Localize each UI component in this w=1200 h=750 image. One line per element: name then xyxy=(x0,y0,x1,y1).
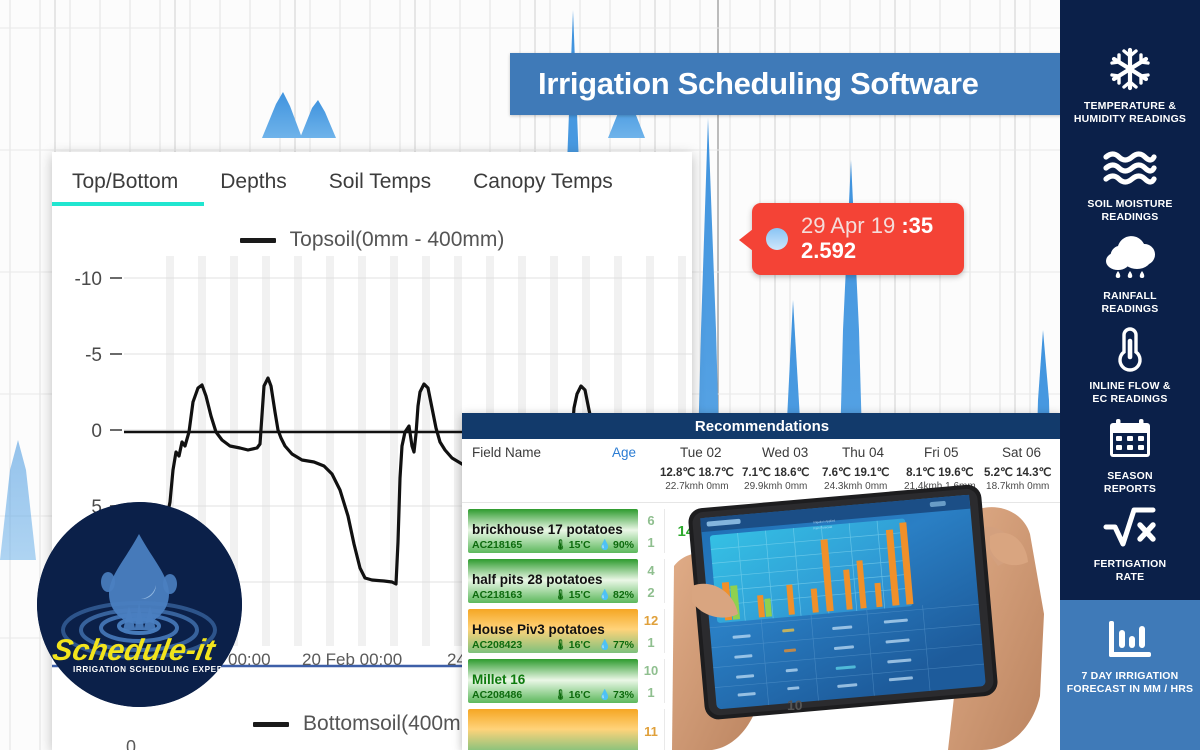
field-name-cell[interactable]: Millet 16 AC208486 🌡 16'C 💧 73% xyxy=(468,659,638,703)
snowflake-icon xyxy=(1107,42,1153,96)
column-header-thu: Thu 04 xyxy=(842,445,884,460)
page-title: Irrigation Scheduling Software xyxy=(538,66,979,102)
sidebar-item-fertigation-rate[interactable]: FERTIGATION RATE xyxy=(1060,500,1200,584)
legend-label-topsoil: Topsoil(0mm - 400mm) xyxy=(290,228,505,252)
feature-sidebar: TEMPERATURE & HUMIDITY READINGS SOIL MOI… xyxy=(1060,0,1200,750)
age-top-value: 4 xyxy=(647,563,654,578)
sidebar-item-label: SEASON REPORTS xyxy=(1104,470,1156,496)
field-code: AC208486 xyxy=(472,689,552,701)
field-name-cell[interactable] xyxy=(468,709,638,750)
age-bottom-value: 1 xyxy=(647,535,654,550)
column-header-tue: Tue 02 xyxy=(680,445,722,460)
column-header-sat: Sat 06 xyxy=(1002,445,1041,460)
field-humidity: 77% xyxy=(613,639,634,651)
age-cell: 10 1 xyxy=(638,659,664,703)
schedule-it-logo: Schedule-it IRRIGATION SCHEDULING EXPERT… xyxy=(37,502,242,707)
sidebar-item-label: INLINE FLOW & EC READINGS xyxy=(1089,380,1170,406)
age-cell: 12 1 xyxy=(638,609,664,653)
chart-legend-topsoil: Topsoil(0mm - 400mm) xyxy=(52,220,692,256)
sidebar-item-label: SOIL MOISTURE READINGS xyxy=(1087,198,1172,224)
column-header-field-name: Field Name xyxy=(472,445,541,460)
square-root-icon xyxy=(1103,500,1157,554)
logo-svg: Schedule-it IRRIGATION SCHEDULING EXPERT… xyxy=(37,502,242,707)
age-cell: 11 xyxy=(638,709,664,750)
tablet-device: Irrigation Applied Rain Forecast xyxy=(687,484,998,721)
age-top-value: 10 xyxy=(644,663,658,678)
recommendations-title: Recommendations xyxy=(462,413,1062,439)
tab-top-bottom[interactable]: Top/Bottom xyxy=(72,170,178,206)
calendar-icon xyxy=(1107,412,1153,466)
svg-text:-10: -10 xyxy=(75,269,102,290)
chart-tab-bar: Top/Bottom Depths Soil Temps Canopy Temp… xyxy=(52,152,692,220)
field-name-label: half pits 28 potatoes xyxy=(472,573,634,587)
age-top-value: 6 xyxy=(647,513,654,528)
field-meta: AC208423 🌡 16'C 💧 77% xyxy=(472,639,634,651)
age-bottom-value: 1 xyxy=(647,635,654,650)
legend-line-swatch-bottom xyxy=(253,722,289,727)
bar-chart-icon xyxy=(1105,612,1155,666)
sidebar-item-label: TEMPERATURE & HUMIDITY READINGS xyxy=(1074,100,1186,126)
logo-wordmark: Schedule-it xyxy=(50,634,219,667)
sidebar-item-season-reports[interactable]: SEASON REPORTS xyxy=(1060,412,1200,496)
field-meta: AC208486 🌡 16'C 💧 73% xyxy=(472,689,634,701)
field-name-cell[interactable]: brickhouse 17 potatoes AC218165 🌡 15'C 💧… xyxy=(468,509,638,553)
sidebar-item-label: RAINFALL READINGS xyxy=(1101,290,1158,316)
tablet-in-hands-photo: Irrigation Applied Rain Forecast xyxy=(672,474,1064,750)
field-code: AC208423 xyxy=(472,639,552,651)
field-humidity: 82% xyxy=(613,589,634,601)
column-header-wed: Wed 03 xyxy=(762,445,808,460)
field-code: AC218163 xyxy=(472,589,552,601)
field-name-cell[interactable]: half pits 28 potatoes AC218163 🌡 15'C 💧 … xyxy=(468,559,638,603)
rain-cloud-icon xyxy=(1103,232,1157,286)
thermometer-icon: 🌡 xyxy=(554,640,567,651)
field-humidity: 90% xyxy=(613,539,634,551)
tab-canopy-temps[interactable]: Canopy Temps xyxy=(473,170,613,206)
tooltip-value: 2.592 xyxy=(801,239,933,264)
age-top-value: 12 xyxy=(644,613,658,628)
age-cell: 6 1 xyxy=(638,509,664,553)
column-header-fri: Fri 05 xyxy=(924,445,959,460)
field-temp: 15'C xyxy=(569,539,591,551)
humidity-icon: 💧 xyxy=(599,590,611,601)
tooltip-timestamp: 29 Apr 19 :35 xyxy=(801,214,933,239)
svg-text:0: 0 xyxy=(91,421,102,442)
field-humidity: 73% xyxy=(613,689,634,701)
column-header-age[interactable]: Age xyxy=(612,445,636,460)
field-meta: AC218163 🌡 15'C 💧 82% xyxy=(472,589,634,601)
age-cell: 4 2 xyxy=(638,559,664,603)
svg-text:-5: -5 xyxy=(85,345,102,366)
humidity-icon: 💧 xyxy=(599,690,611,701)
legend-line-swatch xyxy=(240,238,276,243)
humidity-icon: 💧 xyxy=(599,540,611,551)
field-temp: 15'C xyxy=(569,589,591,601)
age-bottom-value: 2 xyxy=(647,585,654,600)
page-title-banner: Irrigation Scheduling Software xyxy=(510,53,1070,115)
field-meta: AC218165 🌡 15'C 💧 90% xyxy=(472,539,634,551)
age-top-value: 11 xyxy=(644,724,658,739)
humidity-icon: 💧 xyxy=(599,640,611,651)
chart-value-tooltip: 29 Apr 19 :35 2.592 xyxy=(752,203,964,275)
bottomsoil-y-first-tick: 0 xyxy=(126,737,136,750)
sidebar-item-inline-flow-ec[interactable]: INLINE FLOW & EC READINGS xyxy=(1060,322,1200,406)
x-tick-label-1: 20 Feb 00:00 xyxy=(302,650,402,670)
sidebar-item-rainfall[interactable]: RAINFALL READINGS xyxy=(1060,232,1200,316)
waves-icon xyxy=(1102,140,1158,194)
field-name-cell[interactable]: House Piv3 potatoes AC208423 🌡 16'C 💧 77… xyxy=(468,609,638,653)
field-name-label: House Piv3 potatoes xyxy=(472,623,634,637)
sidebar-item-label: FERTIGATION RATE xyxy=(1094,558,1167,584)
tab-depths[interactable]: Depths xyxy=(220,170,287,206)
data-point-dot-icon xyxy=(766,228,788,250)
field-name-label: Millet 16 xyxy=(472,673,634,687)
sidebar-item-soil-moisture[interactable]: SOIL MOISTURE READINGS xyxy=(1060,140,1200,224)
field-code: AC218165 xyxy=(472,539,552,551)
field-temp: 16'C xyxy=(569,639,591,651)
sidebar-item-temperature-humidity[interactable]: TEMPERATURE & HUMIDITY READINGS xyxy=(1060,42,1200,126)
logo-wordmark-text: Schedule-it xyxy=(50,634,219,667)
sidebar-item-label: 7 DAY IRRIGATION FORECAST IN MM / HRS xyxy=(1067,670,1194,696)
field-temp: 16'C xyxy=(569,689,591,701)
screenshot-root: Irrigation Scheduling Software Top/Botto… xyxy=(0,0,1200,750)
tab-soil-temps[interactable]: Soil Temps xyxy=(329,170,431,206)
age-bottom-value: 1 xyxy=(647,685,654,700)
thermometer-icon: 🌡 xyxy=(554,690,567,701)
field-name-label: brickhouse 17 potatoes xyxy=(472,523,634,537)
thermometer-icon xyxy=(1116,322,1144,376)
logo-tagline-text: IRRIGATION SCHEDULING EXPERTS xyxy=(73,665,235,674)
tablet-overlay-number: 10 xyxy=(787,697,803,713)
tablet-photo-svg: Irrigation Applied Rain Forecast xyxy=(672,474,1064,750)
thermometer-icon: 🌡 xyxy=(554,540,567,551)
sidebar-item-7day-forecast[interactable]: 7 DAY IRRIGATION FORECAST IN MM / HRS xyxy=(1060,612,1200,696)
thermometer-icon: 🌡 xyxy=(554,590,567,601)
